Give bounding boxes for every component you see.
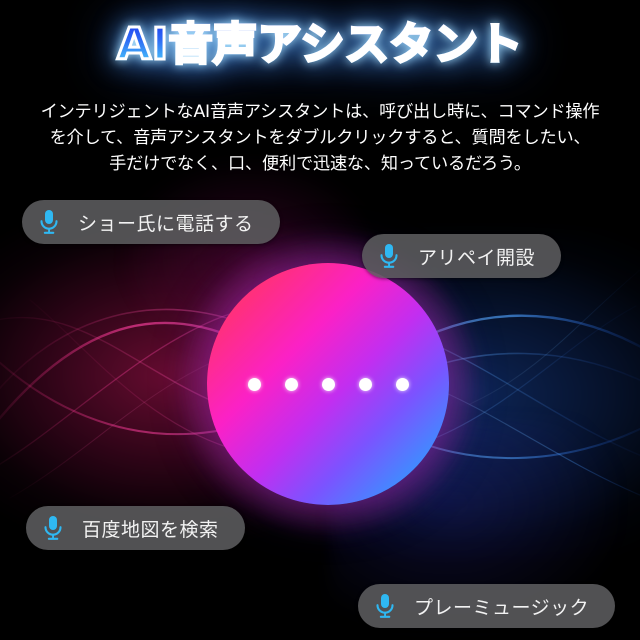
description-line-3: 手だけでなく、口、便利で迅速な、知っているだろう。 xyxy=(4,151,636,177)
listening-indicator-dots xyxy=(207,263,449,505)
indicator-dot xyxy=(248,378,261,391)
command-chip-label: アリペイ開設 xyxy=(418,243,535,270)
indicator-dot xyxy=(396,378,409,391)
command-chip-play-music[interactable]: プレーミュージック xyxy=(358,584,615,628)
command-chip-open-alipay[interactable]: アリペイ開設 xyxy=(362,234,561,278)
description-line-1: インテリジェントなAI音声アシスタントは、呼び出し時に、コマンド操作 xyxy=(4,99,636,125)
command-chip-label: 百度地図を検索 xyxy=(82,515,219,542)
microphone-icon xyxy=(36,208,62,236)
description-paragraph: インテリジェントなAI音声アシスタントは、呼び出し時に、コマンド操作 を介して、… xyxy=(4,99,636,177)
command-chip-call-mr-shaw[interactable]: ショー氏に電話する xyxy=(22,200,280,244)
command-chip-label: ショー氏に電話する xyxy=(78,209,254,236)
indicator-dot xyxy=(285,378,298,391)
description-line-2: を介して、音声アシスタントをダブルクリックすると、質問をしたい、 xyxy=(4,125,636,151)
promo-banner: AI音声アシスタント インテリジェントなAI音声アシスタントは、呼び出し時に、コ… xyxy=(0,0,640,640)
microphone-icon xyxy=(40,514,66,542)
indicator-dot xyxy=(359,378,372,391)
page-title: AI音声アシスタント xyxy=(0,22,640,69)
indicator-dot xyxy=(322,378,335,391)
microphone-icon xyxy=(372,592,398,620)
command-chip-search-baidu-map[interactable]: 百度地図を検索 xyxy=(26,506,245,550)
microphone-icon xyxy=(376,242,402,270)
command-chip-label: プレーミュージック xyxy=(414,593,589,620)
